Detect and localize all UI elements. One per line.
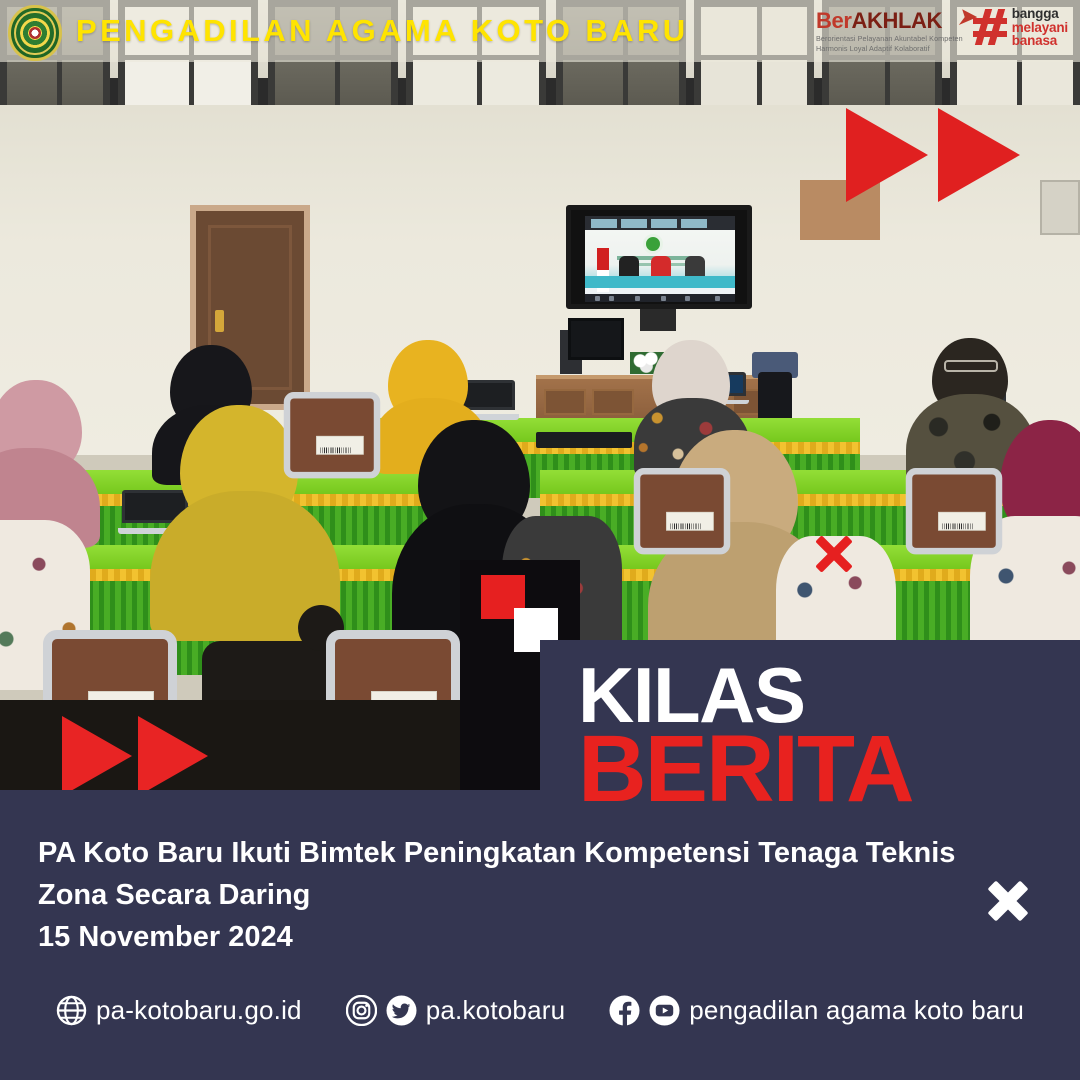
berakhlak-wordmark: BerAKHLAK ➤ (816, 8, 963, 34)
chair (628, 468, 736, 565)
arrow-decoration-icon (138, 716, 208, 796)
poster-canvas: PENGADILAN AGAMA KOTO BARU BerAKHLAK ➤ B… (0, 0, 1080, 1080)
x-mark-icon-white (985, 878, 1031, 924)
court-emblem-icon (8, 5, 62, 61)
social-group-1[interactable]: pa.kotobaru (346, 995, 566, 1026)
news-date: 15 November 2024 (38, 916, 968, 958)
social-links-row: pa-kotobaru.go.id pa.kotobaru (0, 995, 1080, 1026)
berakhlak-tagline-line2: Harmonis Loyal Adaptif Kolaboratif (816, 44, 963, 54)
bangga-line-1: bangga (1012, 7, 1068, 21)
bangga-line-2: melayani (1012, 21, 1068, 35)
youtube-icon[interactable] (649, 995, 680, 1026)
keyboard (536, 432, 632, 448)
arrow-decoration-icon (846, 108, 928, 202)
social-handle-1: pa.kotobaru (426, 995, 566, 1026)
website-handle: pa-kotobaru.go.id (96, 995, 302, 1026)
website-link[interactable]: pa-kotobaru.go.id (56, 995, 302, 1026)
news-headline: PA Koto Baru Ikuti Bimtek Peningkatan Ko… (38, 832, 968, 958)
bangga-line-3: banasa (1012, 34, 1068, 48)
page-title: PENGADILAN AGAMA KOTO BARU (76, 13, 689, 49)
berakhlak-word-2: AKHLAK (852, 8, 942, 33)
door-knob (215, 310, 224, 332)
chair (900, 468, 1008, 565)
chair (278, 392, 386, 489)
twitter-icon[interactable] (386, 995, 417, 1026)
x-mark-icon-red (812, 532, 856, 576)
social-group-2[interactable]: pengadilan agama koto baru (609, 995, 1024, 1026)
berakhlak-logo: BerAKHLAK ➤ Berorientasi Pelayanan Akunt… (816, 6, 1066, 58)
footer-panel: PA Koto Baru Ikuti Bimtek Peningkatan Ko… (0, 790, 1080, 1080)
hashtag-icon (973, 9, 1007, 45)
globe-icon (56, 995, 87, 1026)
arrow-decoration-icon (62, 716, 132, 796)
facebook-icon[interactable] (609, 995, 640, 1026)
television-screen (566, 205, 752, 309)
news-headline-line1: PA Koto Baru Ikuti Bimtek Peningkatan Ko… (38, 837, 858, 869)
social-handle-2: pengadilan agama koto baru (689, 995, 1024, 1026)
bangga-melayani-logo: bangga melayani banasa (973, 6, 1068, 48)
header-bar: PENGADILAN AGAMA KOTO BARU BerAKHLAK ➤ B… (0, 0, 1080, 62)
tv-stand (640, 309, 676, 331)
desktop-monitor (568, 318, 624, 360)
berakhlak-word-1: Ber (816, 8, 852, 33)
wall-frame (1040, 180, 1080, 235)
arrow-decoration-icon (938, 108, 1020, 202)
berakhlak-tagline-line1: Berorientasi Pelayanan Akuntabel Kompete… (816, 34, 963, 44)
instagram-icon[interactable] (346, 995, 377, 1026)
title-line-2: BERITA (578, 722, 913, 817)
